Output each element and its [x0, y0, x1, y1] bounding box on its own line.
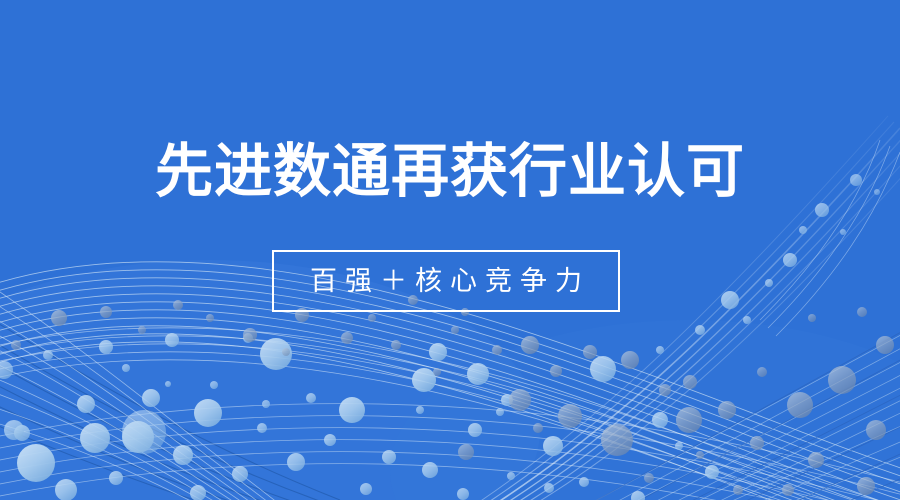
- promo-banner: 先进数通再获行业认可 百强＋核心竞争力: [0, 0, 900, 500]
- subtitle-badge-label: 百强＋核心竞争力: [302, 266, 590, 296]
- subtitle-badge: 百强＋核心竞争力: [272, 250, 620, 312]
- page-title: 先进数通再获行业认可: [0, 139, 900, 205]
- banner-content: 先进数通再获行业认可 百强＋核心竞争力: [0, 0, 900, 500]
